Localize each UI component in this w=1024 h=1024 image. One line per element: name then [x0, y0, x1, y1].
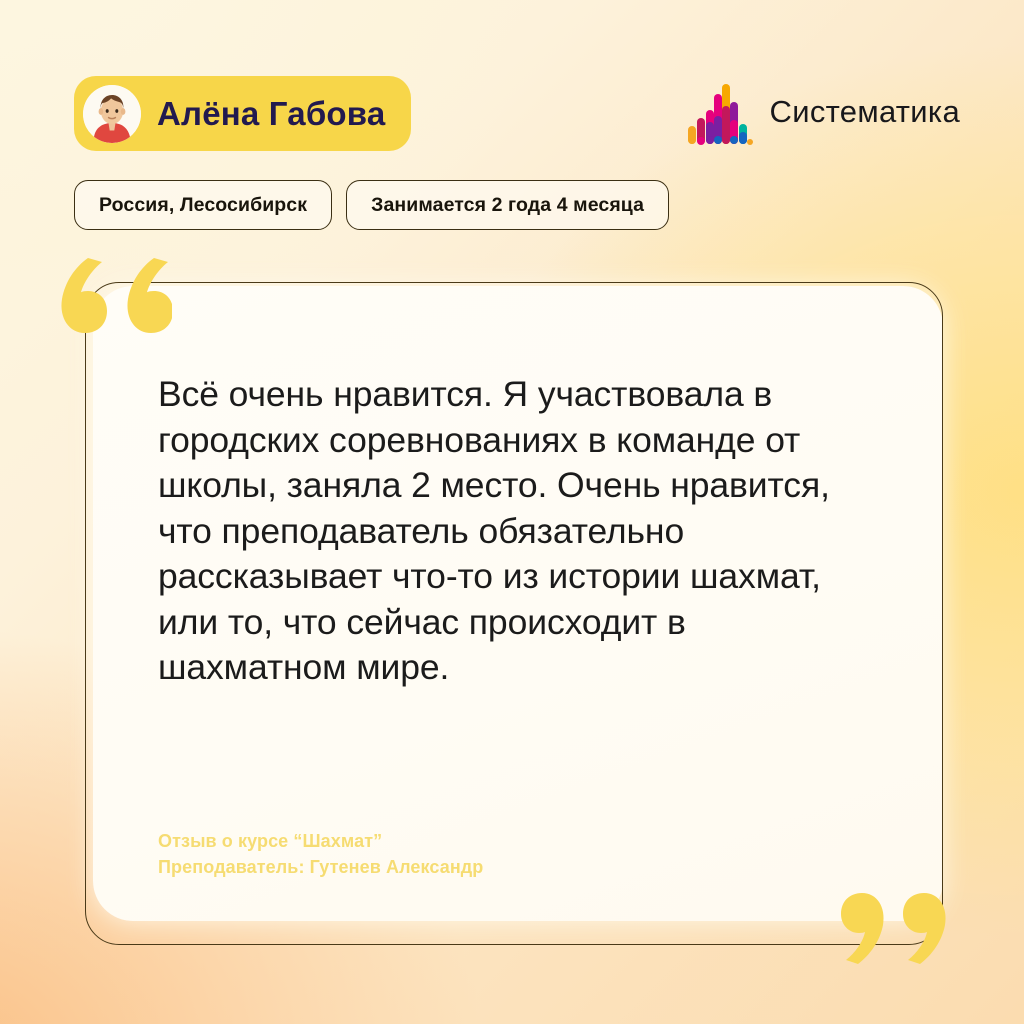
quote-close-icon: [840, 866, 960, 966]
quote-text-block: Всё очень нравится. Я участвовала в горо…: [158, 372, 858, 691]
quote-attribution: Отзыв о курсе “Шахмат” Преподаватель: Гу…: [158, 828, 483, 880]
quote-open-icon: [44, 256, 172, 360]
brand-name: Систематика: [770, 94, 960, 130]
brand-logo: Систематика: [686, 76, 960, 148]
testimonial-card-canvas: Алёна Габова: [0, 0, 1024, 1024]
course-label: Отзыв о курсе “Шахмат”: [158, 828, 483, 854]
badge-location: Россия, Лесосибирск: [74, 180, 332, 230]
systematika-bars-logo-icon: [686, 76, 756, 148]
student-name: Алёна Габова: [157, 97, 385, 130]
badge-duration: Занимается 2 года 4 месяца: [346, 180, 669, 230]
student-name-badge: Алёна Габова: [74, 76, 411, 151]
badge-duration-label: Занимается 2 года 4 месяца: [371, 194, 644, 217]
teacher-label: Преподаватель: Гутенев Александр: [158, 854, 483, 880]
quote-text: Всё очень нравится. Я участвовала в горо…: [158, 372, 858, 691]
student-meta-badges: Россия, Лесосибирск Занимается 2 года 4 …: [74, 180, 669, 230]
badge-location-label: Россия, Лесосибирск: [99, 194, 307, 217]
header: Алёна Габова: [0, 0, 1024, 175]
student-avatar-icon: [83, 85, 141, 143]
